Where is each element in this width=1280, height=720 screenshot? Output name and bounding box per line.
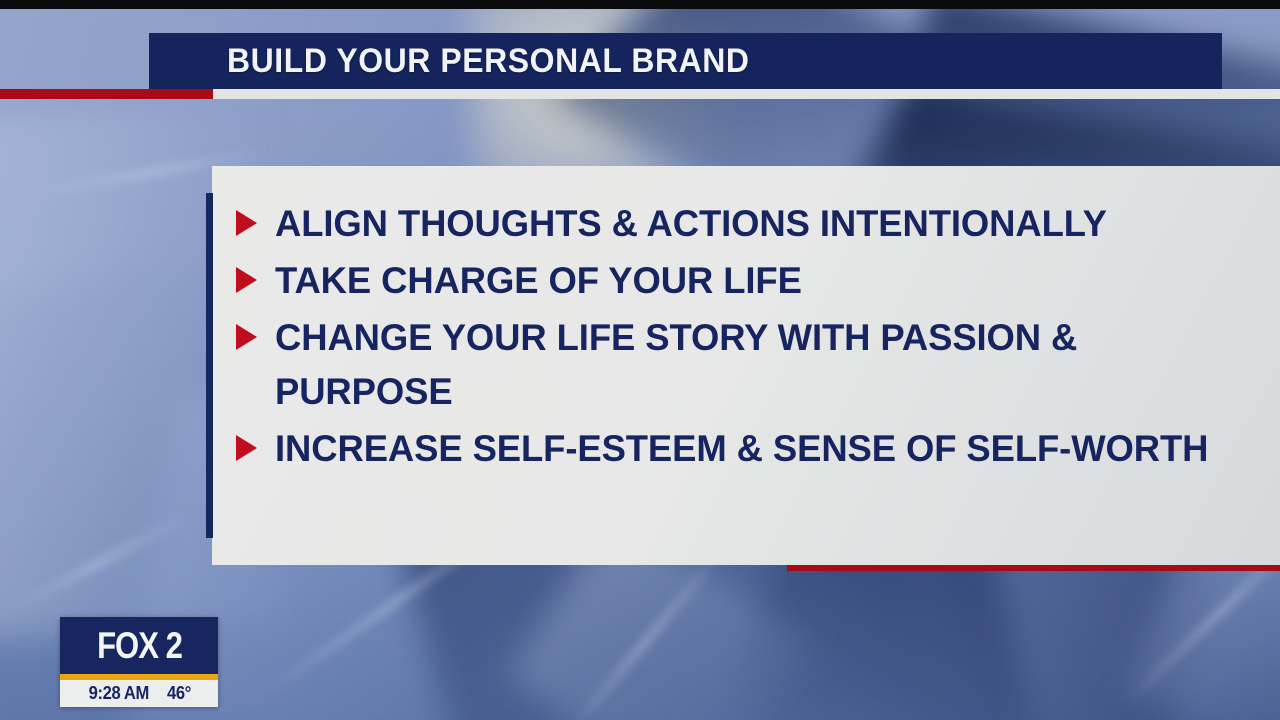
headline-text: BUILD YOUR PERSONAL BRAND [227, 42, 750, 81]
letterbox-bar-top [0, 0, 1280, 9]
list-item-label: TAKE CHARGE OF YOUR LIFE [275, 254, 802, 308]
list-item-label: INCREASE SELF-ESTEEM & SENSE OF SELF-WOR… [275, 422, 1208, 476]
list-item: CHANGE YOUR LIFE STORY WITH PASSION & PU… [236, 311, 1246, 419]
triangle-bullet-icon [236, 324, 257, 350]
triangle-bullet-icon [236, 210, 257, 236]
headline-bar: BUILD YOUR PERSONAL BRAND [149, 33, 1222, 89]
broadcast-screen: BUILD YOUR PERSONAL BRAND ALIGN THOUGHTS… [0, 0, 1280, 720]
triangle-bullet-icon [236, 267, 257, 293]
panel-underline-red [787, 565, 1280, 571]
station-logo: FOX 2 [60, 617, 218, 674]
bullet-list: ALIGN THOUGHTS & ACTIONS INTENTIONALLY T… [236, 197, 1246, 479]
station-bug: FOX 2 9:28 AM 46° [60, 617, 218, 707]
list-item: INCREASE SELF-ESTEEM & SENSE OF SELF-WOR… [236, 422, 1246, 476]
panel-accent-bar [206, 193, 213, 538]
list-item: ALIGN THOUGHTS & ACTIONS INTENTIONALLY [236, 197, 1246, 251]
headline-rule-red [0, 89, 213, 99]
temperature-text: 46° [167, 683, 191, 704]
station-bug-info: 9:28 AM 46° [60, 680, 218, 707]
list-item-label: CHANGE YOUR LIFE STORY WITH PASSION & PU… [275, 311, 1231, 419]
clock-text: 9:28 AM [89, 683, 149, 704]
triangle-bullet-icon [236, 435, 257, 461]
headline-rule-white [213, 89, 1280, 99]
list-item: TAKE CHARGE OF YOUR LIFE [236, 254, 1246, 308]
station-logo-text: FOX 2 [97, 627, 182, 664]
list-item-label: ALIGN THOUGHTS & ACTIONS INTENTIONALLY [275, 197, 1107, 251]
